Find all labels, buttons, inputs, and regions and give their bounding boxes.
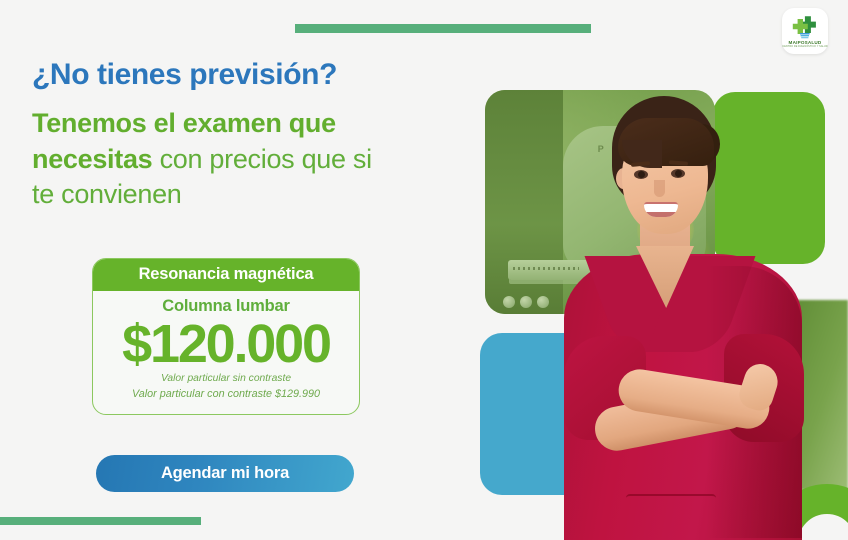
brand-logo[interactable]: MAIPOSALUD CENTRO DE DIAGNÓSTICO Y SALUD (782, 8, 828, 54)
logo-tagline: CENTRO DE DIAGNÓSTICO Y SALUD (782, 45, 827, 48)
medical-cross-icon (791, 14, 819, 40)
nurse-eye-right (671, 169, 685, 178)
headline-line2-bold: necesitas (32, 144, 152, 174)
schedule-appointment-button[interactable]: Agendar mi hora (96, 455, 354, 492)
headline-line1: Tenemos el examen que (32, 108, 336, 138)
headline-main: Tenemos el examen que necesitas con prec… (32, 106, 472, 213)
mri-room-wall (485, 90, 563, 314)
nurse-hair-front (618, 118, 714, 166)
headline-line2-rest: con precios que si (152, 144, 371, 174)
price-card-body: Columna lumbar $120.000 Valor particular… (93, 291, 359, 414)
bottom-accent-bar (0, 517, 201, 525)
price-card-amount: $120.000 (101, 317, 351, 372)
headline-block: ¿No tienes previsión? Tenemos el examen … (32, 58, 472, 213)
headline-line3: te convienen (32, 179, 182, 209)
nurse-smile (644, 202, 678, 217)
nurse-photo (556, 96, 810, 540)
nurse-eye-left (634, 170, 648, 179)
price-card-note-1: Valor particular sin contraste (101, 372, 351, 387)
promotional-banner: P (0, 0, 848, 540)
price-card-header: Resonancia magnética (93, 259, 359, 291)
nurse-scrubs-pocket (626, 494, 716, 540)
nurse-nose (654, 180, 665, 197)
price-card-note-2: Valor particular con contraste $129.990 (101, 387, 351, 403)
headline-kicker: ¿No tienes previsión? (32, 58, 472, 92)
top-accent-bar (295, 24, 591, 33)
price-card: Resonancia magnética Columna lumbar $120… (92, 258, 360, 415)
